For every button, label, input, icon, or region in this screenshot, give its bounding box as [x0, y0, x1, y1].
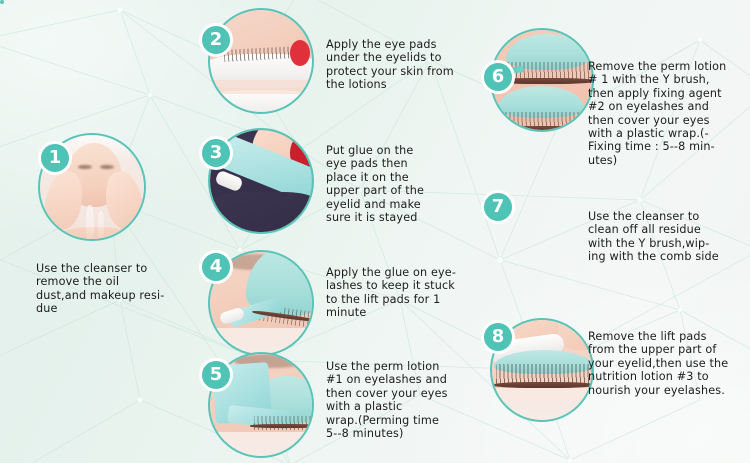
step-7-photo: [0, 0, 4, 4]
step-6-caption: Remove the perm lotion # 1 with the Y br…: [588, 60, 748, 167]
step-8-badge: 8: [481, 320, 515, 354]
step-3-badge: 3: [199, 136, 233, 170]
step-5-badge: 5: [199, 358, 233, 392]
step-4-badge: 4: [199, 250, 233, 284]
lash-lift-instruction-poster: 1 Use the cleanser to remove the oil dus…: [0, 0, 750, 463]
step-8-caption: Remove the lift pads from the upper part…: [588, 330, 748, 397]
step-7-caption: Use the cleanser to clean off all residu…: [588, 210, 746, 264]
step-7-badge: 7: [481, 190, 515, 224]
step-5-caption: Use the perm lotion #1 on eyelashes and …: [326, 360, 476, 440]
step-2-photo: [208, 8, 314, 114]
step-6-badge: 6: [481, 60, 515, 94]
step-2-badge: 2: [199, 23, 233, 57]
step-3-caption: Put glue on the eye pads then place it o…: [326, 144, 476, 224]
step-1-badge: 1: [38, 141, 72, 175]
step-4-caption: Apply the glue on eye- lashes to keep it…: [326, 266, 484, 320]
step-1-caption: Use the cleanser to remove the oil dust,…: [36, 262, 186, 316]
step-2-caption: Apply the eye pads under the eyelids to …: [326, 38, 486, 92]
